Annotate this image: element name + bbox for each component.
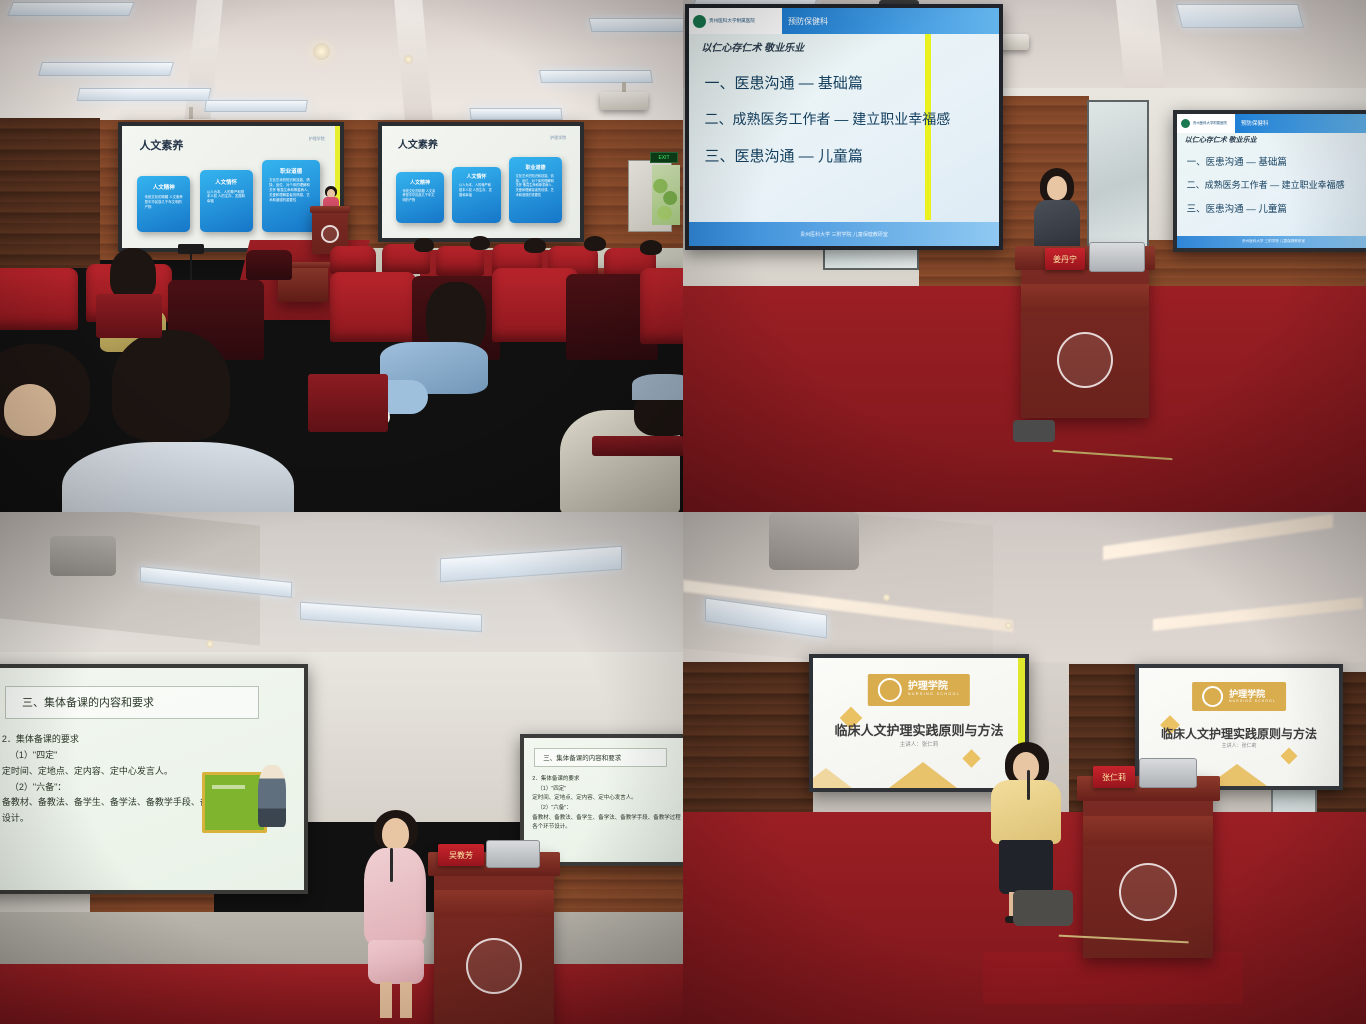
- ceiling-light: [7, 2, 135, 16]
- card-heading: 人文精神: [403, 179, 438, 186]
- floor-carpet: [0, 964, 683, 1024]
- projector: [600, 92, 648, 110]
- head: [382, 818, 409, 850]
- panel-top-left[interactable]: 人文素养 护理学院 人文精神 传统文化的精髓 人文素养是中华民族几千年文明的产物…: [0, 0, 683, 512]
- slide-calligraphy: 以仁心存仁术 敬业乐业: [701, 39, 804, 54]
- nursing-seal-icon: [1202, 686, 1223, 707]
- seat-tray: [592, 436, 683, 456]
- card-lines: 传统文化的精髓 人文素养是中华民族几千年文明的产物: [403, 189, 438, 203]
- seat: [436, 246, 484, 276]
- leg: [400, 982, 412, 1018]
- slide-humanistic-literacy-mirror: 人文素养 护理学院 人文精神 传统文化的精髓 人文素养是中华民族几千年文明的产物…: [382, 126, 580, 238]
- microphone: [390, 848, 393, 882]
- teacher-icon: [258, 765, 287, 827]
- audience-head: [470, 236, 490, 250]
- slide-lesson-prep-mirror: 三、集体备课的内容和要求 2．集体备课的要求 （1）"四定" 定时间、定地点、定…: [524, 738, 683, 862]
- seat: [246, 250, 292, 280]
- photo-collage: 人文素养 护理学院 人文精神 传统文化的精髓 人文素养是中华民族几千年文明的产物…: [0, 0, 1366, 1024]
- outline-row: 一、医患沟通 — 基础篇: [1187, 154, 1351, 168]
- podium-band: [1021, 284, 1149, 312]
- downlight: [1005, 622, 1012, 629]
- card-heading: 职业道德: [269, 167, 313, 175]
- head: [1013, 752, 1039, 782]
- panel-top-right[interactable]: 贵州医科大学附属医院 预防保健科 以仁心存仁术 敬业乐业 一、医患沟通 — 基础…: [683, 0, 1366, 512]
- ceiling-light: [539, 70, 653, 83]
- slide-corner-label: 护理学院: [550, 135, 566, 141]
- slide-heading: 三、集体备课的内容和要求: [534, 748, 667, 767]
- podium-nameplate: 张仁莉: [1093, 766, 1135, 788]
- slide-line: 备教材、备教法、备学生、备学法、备教学手段、备教学过程各个环节设计。: [532, 814, 681, 833]
- slide-topbar: 贵州医科大学附属医院 预防保健科: [1177, 114, 1366, 133]
- ceiling-light: [204, 100, 308, 112]
- slide-card-group: 人文精神 传统文化的精髓 人文素养是中华民族几千年文明的产物 人文情怀 以人为本…: [137, 160, 320, 232]
- skirt: [368, 940, 424, 984]
- outline-row: 二、成熟医务工作者 — 建立职业幸福感: [1187, 178, 1351, 191]
- laptop: [1089, 242, 1145, 272]
- card-heading: 人文情怀: [459, 173, 494, 180]
- slide-footer: 贵州医科大学 三附学院 儿童保健教研室: [1177, 236, 1366, 248]
- slide-line: 2．集体备课的要求: [2, 732, 288, 748]
- panel-bottom-right[interactable]: 护理学院 NURSING SCHOOL 临床人文护理实践原则与方法 主讲人：张仁…: [683, 512, 1366, 1024]
- podium-emblem: [1057, 332, 1113, 388]
- projection-screen-secondary: 三、集体备课的内容和要求 2．集体备课的要求 （1）"四定" 定时间、定地点、定…: [520, 734, 683, 866]
- slide-banner: 预防保健科: [1235, 114, 1366, 133]
- podium-band: [434, 890, 554, 918]
- logo-en: NURSING SCHOOL: [1229, 700, 1276, 703]
- projection-screen-main: 贵州医科大学附属医院 预防保健科 以仁心存仁术 敬业乐业 一、医患沟通 — 基础…: [685, 4, 1003, 250]
- slide-logo-bar: 护理学院 NURSING SCHOOL: [868, 674, 970, 706]
- outline-row: 三、医患沟通 — 儿童篇: [705, 145, 969, 166]
- podium-top: [310, 206, 350, 213]
- floor-bag: [1013, 420, 1055, 442]
- podium-emblem: [1119, 863, 1177, 921]
- audience-head: [414, 238, 434, 252]
- card-heading: 职业道德: [516, 164, 556, 171]
- podium: [434, 852, 554, 1024]
- slide-logo-text: 贵州医科大学附属医院: [709, 19, 755, 24]
- slide-title: 临床人文护理实践原则与方法: [1139, 725, 1339, 742]
- cap: [632, 374, 683, 400]
- slide-title: 人文素养: [398, 136, 438, 151]
- slide-title: 临床人文护理实践原则与方法: [813, 720, 1025, 739]
- podium-band: [1083, 816, 1213, 845]
- slide-heading: 三、集体备课的内容和要求: [5, 686, 259, 719]
- card-lines: 以人为本、人的尊严和基本人权 人的生存、发展和幸福: [207, 190, 245, 205]
- audience-head: [640, 240, 662, 255]
- logo-en: NURSING SCHOOL: [908, 693, 960, 697]
- slide-footer: 贵州医科大学 三附学院 儿童保健教研室: [689, 222, 999, 246]
- slide-card-group: 人文精神 传统文化的精髓 人文素养是中华民族几千年文明的产物 人文情怀 以人为本…: [396, 157, 562, 223]
- slide-logo: 贵州医科大学附属医院: [689, 8, 782, 34]
- ceiling-speaker: [50, 536, 116, 576]
- projection-screen-main: 三、集体备课的内容和要求 2．集体备课的要求 （1）"四定" 定时间、定地点、定…: [0, 664, 308, 894]
- card-heading: 人文情怀: [207, 178, 245, 186]
- downlight: [883, 594, 890, 601]
- slide-outline-mirror: 贵州医科大学附属医院 预防保健科 以仁心存仁术 敬业乐业 一、医患沟通 — 基础…: [1177, 114, 1366, 248]
- slide-logo-bar: 护理学院 NURSING SCHOOL: [1192, 682, 1286, 711]
- slide-lesson-prep: 三、集体备课的内容和要求 2．集体备课的要求 （1）"四定" 定时间、定地点、定…: [0, 668, 304, 890]
- ceiling-light: [469, 108, 562, 120]
- seat: [640, 268, 683, 344]
- slide-line: （1）"四定": [532, 785, 681, 795]
- outline-row: 二、成熟医务工作者 — 建立职业幸福感: [705, 109, 969, 129]
- diamond-accent-icon: [1281, 748, 1298, 765]
- card-lines: 以人为本、人的尊严和基本人权 人的生存、发展和幸福: [459, 183, 494, 197]
- projection-screen-secondary: 贵州医科大学附属医院 预防保健科 以仁心存仁术 敬业乐业 一、医患沟通 — 基础…: [1173, 110, 1366, 252]
- seat: [0, 268, 78, 330]
- speaker-figure: [1028, 168, 1084, 258]
- slide-calligraphy: 以仁心存仁术 敬业乐业: [1185, 135, 1257, 145]
- projection-screen-right: 人文素养 护理学院 人文精神 传统文化的精髓 人文素养是中华民族几千年文明的产物…: [378, 122, 584, 242]
- slide-outline-rows: 一、医患沟通 — 基础篇 二、成熟医务工作者 — 建立职业幸福感 三、医患沟通 …: [705, 72, 969, 181]
- podium-emblem: [321, 225, 339, 243]
- slide-outline-rows: 一、医患沟通 — 基础篇 二、成熟医务工作者 — 建立职业幸福感 三、医患沟通 …: [1187, 154, 1351, 225]
- window-foliage: [652, 165, 680, 225]
- card-lines: 传统文化的精髓 人文素养是中华民族几千年文明的产物: [145, 195, 183, 210]
- slide-presenter: 主讲人：张仁莉: [1139, 742, 1339, 749]
- slide-card: 人文情怀 以人为本、人的尊严和基本人权 人的生存、发展和幸福: [452, 167, 500, 224]
- exit-sign: EXIT: [650, 152, 678, 163]
- podium-emblem: [466, 938, 522, 994]
- speaker-figure: [358, 810, 434, 1024]
- slide-card: 人文情怀 以人为本、人的尊严和基本人权 人的生存、发展和幸福: [200, 170, 253, 232]
- card-heading: 人文精神: [145, 183, 183, 191]
- ceiling-speaker: [769, 512, 859, 570]
- panel-bottom-left[interactable]: 三、集体备课的内容和要求 2．集体备课的要求 （1）"四定" 定时间、定地点、定…: [0, 512, 683, 1024]
- slide-logo-names: 护理学院 NURSING SCHOOL: [1229, 690, 1276, 703]
- podium-nameplate: 姜丹宁: [1045, 248, 1085, 270]
- ceiling-light: [77, 88, 212, 101]
- slide-title: 人文素养: [139, 137, 183, 153]
- slide-logo-text: 贵州医科大学附属医院: [1193, 122, 1227, 125]
- slide-humanistic-literacy: 人文素养 护理学院 人文精神 传统文化的精髓 人文素养是中华民族几千年文明的产物…: [122, 126, 340, 248]
- hospital-logo-icon: [1181, 119, 1190, 128]
- slide-card: 人文精神 传统文化的精髓 人文素养是中华民族几千年文明的产物: [396, 172, 444, 224]
- outline-row: 三、医患沟通 — 儿童篇: [1187, 201, 1351, 215]
- nursing-seal-icon: [878, 678, 902, 702]
- torso-dress: [364, 848, 426, 944]
- audience-head: [584, 236, 606, 251]
- downlight: [404, 55, 413, 64]
- head: [1047, 176, 1067, 200]
- slide-corner-label: 护理学院: [309, 136, 325, 142]
- slide-line: （2）"六备"：: [532, 804, 681, 814]
- wood-wall: [0, 118, 100, 268]
- slide-card: 人文精神 传统文化的精髓 人文素养是中华民族几千年文明的产物: [137, 176, 190, 232]
- card-lines: 文化艺术的知识和技能、情操、品位、对个体的理解和关怀 敬畏生命和尊重病人、关爱和…: [516, 174, 556, 197]
- slide-topbar: 贵州医科大学附属医院 预防保健科: [689, 8, 999, 34]
- card-lines: 文化艺术的知识和技能、情操、品位、对个体的理解和关怀 敬畏生命和尊重病人、关爱和…: [269, 178, 313, 203]
- slide-clipart: [202, 761, 297, 850]
- chevron-accent-icon: [889, 762, 957, 788]
- slide-card: 职业道德 文化艺术的知识和技能、情操、品位、对个体的理解和关怀 敬畏生命和尊重病…: [509, 157, 562, 223]
- skirt: [999, 840, 1053, 894]
- carpet-runner: [983, 952, 1243, 1004]
- projection-screen-left: 人文素养 护理学院 人文精神 传统文化的精髓 人文素养是中华民族几千年文明的产物…: [118, 122, 344, 252]
- slide-line: 2．集体备课的要求: [532, 775, 681, 785]
- floor-bag: [1013, 890, 1073, 926]
- diamond-accent-icon: [963, 749, 981, 767]
- microphone: [1027, 770, 1030, 800]
- outline-row: 一、医患沟通 — 基础篇: [705, 72, 969, 93]
- audience-head: [524, 238, 546, 253]
- leg: [380, 982, 392, 1018]
- slide-logo-names: 护理学院 NURSING SCHOOL: [908, 682, 960, 696]
- seat: [330, 246, 376, 274]
- camera: [178, 244, 204, 254]
- slide-body: 2．集体备课的要求 （1）"四定" 定时间、定地点、定内容、定中心发言人。 （2…: [532, 775, 681, 833]
- hospital-logo-icon: [693, 15, 706, 28]
- seat-tray: [308, 374, 388, 432]
- downlight: [206, 640, 214, 648]
- laptop: [486, 840, 540, 868]
- wood-wall: [683, 662, 813, 832]
- slide-banner: 预防保健科: [782, 8, 999, 34]
- podium-nameplate: 吴教芳: [438, 844, 484, 866]
- slide-logo: 贵州医科大学附属医院: [1177, 114, 1235, 133]
- ceiling-light: [38, 62, 174, 76]
- attendee-figure: [404, 282, 524, 432]
- chevron-accent-icon: [813, 768, 852, 788]
- seat-tray: [96, 294, 162, 338]
- torso: [1034, 200, 1080, 252]
- laptop: [1139, 758, 1197, 788]
- head: [4, 384, 56, 436]
- ceiling-light: [1176, 4, 1304, 28]
- slide-line: 定时间、定地点、定内容、定中心发言人。: [532, 794, 681, 804]
- downlight: [313, 43, 330, 60]
- ceiling-light: [589, 18, 683, 32]
- torso-blazer: [991, 780, 1061, 844]
- slide-outline: 贵州医科大学附属医院 预防保健科 以仁心存仁术 敬业乐业 一、医患沟通 — 基础…: [689, 8, 999, 246]
- attendee-figure: [0, 344, 100, 494]
